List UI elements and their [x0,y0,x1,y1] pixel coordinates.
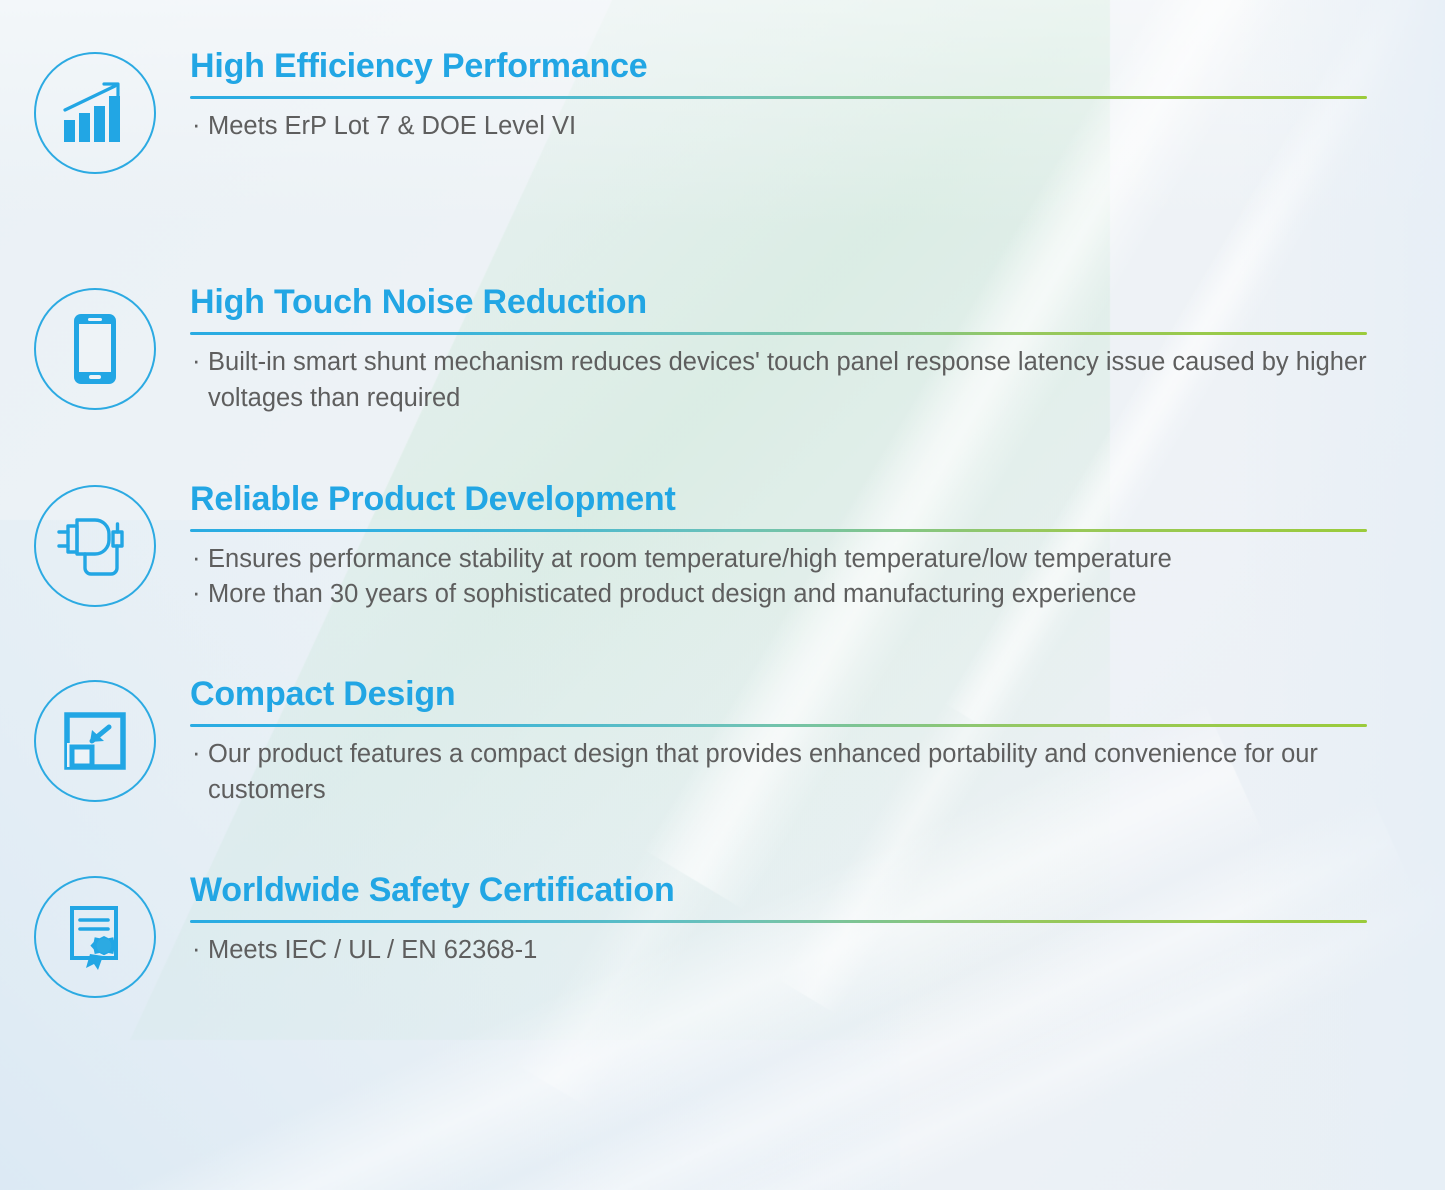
icon-circle [34,680,156,802]
feature-icon-wrapper [0,481,190,607]
feature-content: High Efficiency Performance Meets ErP Lo… [190,48,1445,144]
feature-item-high-efficiency-performance: High Efficiency Performance Meets ErP Lo… [0,48,1445,174]
feature-bullet: More than 30 years of sophisticated prod… [190,576,1367,612]
feature-divider [190,920,1367,923]
feature-item-worldwide-safety-certification: Worldwide Safety Certification Meets IEC… [0,872,1445,998]
feature-icon-wrapper [0,48,190,174]
feature-divider [190,529,1367,532]
feature-bullet: Meets IEC / UL / EN 62368-1 [190,932,1367,968]
icon-circle [34,876,156,998]
feature-content: Compact Design Our product features a co… [190,676,1445,808]
feature-item-compact-design: Compact Design Our product features a co… [0,676,1445,808]
feature-bullets: Built-in smart shunt mechanism reduces d… [190,344,1367,416]
feature-bullet: Ensures performance stability at room te… [190,541,1367,577]
feature-bullet: Built-in smart shunt mechanism reduces d… [190,344,1367,416]
smartphone-icon [71,311,119,387]
icon-circle [34,52,156,174]
feature-title: High Efficiency Performance [190,48,1367,85]
feature-bullet: Our product features a compact design th… [190,736,1367,808]
power-adapter-icon [55,510,135,582]
feature-bullets: Our product features a compact design th… [190,736,1367,808]
feature-item-high-touch-noise-reduction: High Touch Noise Reduction Built-in smar… [0,284,1445,416]
bar-chart-growth-icon [60,80,130,146]
certificate-award-icon [60,902,130,972]
feature-icon-wrapper [0,676,190,802]
feature-bullets: Ensures performance stability at room te… [190,541,1367,612]
feature-bullet: Meets ErP Lot 7 & DOE Level VI [190,108,1367,144]
feature-title: Worldwide Safety Certification [190,872,1367,909]
feature-content: Worldwide Safety Certification Meets IEC… [190,872,1445,968]
feature-title: Compact Design [190,676,1367,713]
feature-divider [190,724,1367,727]
compact-resize-icon [61,709,129,773]
feature-bullets: Meets ErP Lot 7 & DOE Level VI [190,108,1367,144]
feature-list: High Efficiency Performance Meets ErP Lo… [0,0,1445,1190]
icon-circle [34,485,156,607]
feature-title: Reliable Product Development [190,481,1367,518]
feature-item-reliable-product-development: Reliable Product Development Ensures per… [0,481,1445,612]
feature-divider [190,332,1367,335]
feature-bullets: Meets IEC / UL / EN 62368-1 [190,932,1367,968]
feature-icon-wrapper [0,284,190,410]
icon-circle [34,288,156,410]
feature-title: High Touch Noise Reduction [190,284,1367,321]
feature-content: Reliable Product Development Ensures per… [190,481,1445,612]
feature-icon-wrapper [0,872,190,998]
feature-content: High Touch Noise Reduction Built-in smar… [190,284,1445,416]
feature-divider [190,96,1367,99]
